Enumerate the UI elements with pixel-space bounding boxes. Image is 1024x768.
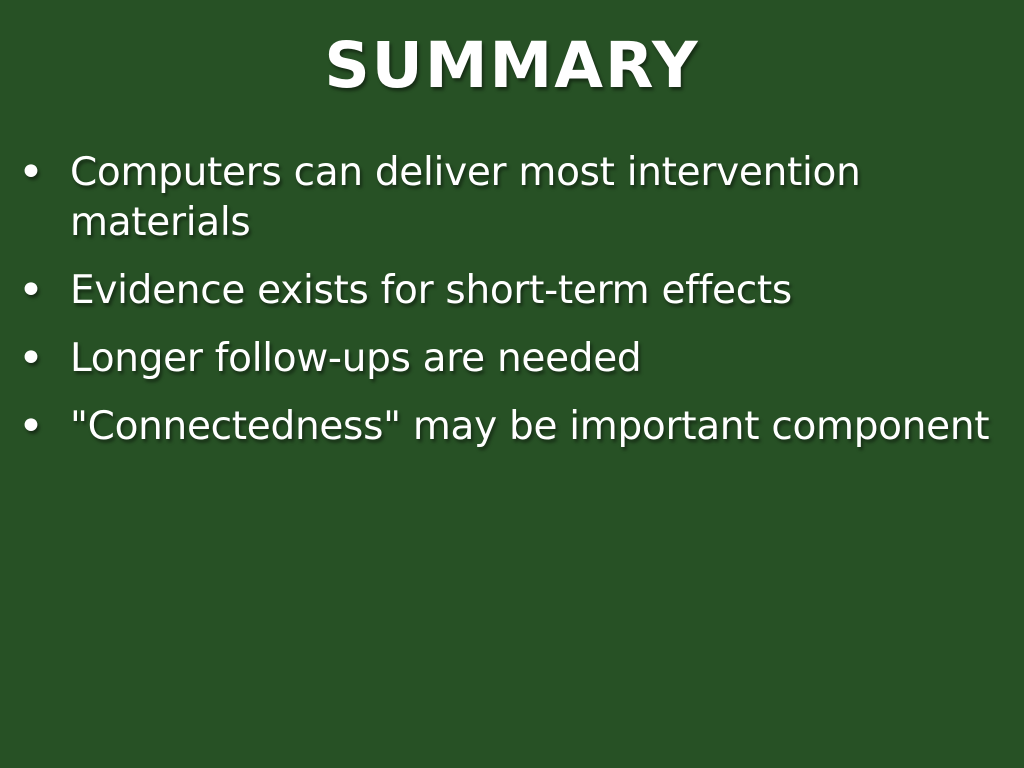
bullet-point-icon: •	[18, 148, 70, 198]
list-item: • "Connectedness" may be important compo…	[18, 402, 998, 452]
list-item: • Evidence exists for short-term effects	[18, 266, 998, 316]
presentation-slide: SUMMARY • Computers can deliver most int…	[0, 0, 1024, 768]
bullet-point-icon: •	[18, 266, 70, 316]
list-item-label: Longer follow-ups are needed	[70, 334, 998, 384]
bullet-point-icon: •	[18, 334, 70, 384]
list-item-label: Evidence exists for short-term effects	[70, 266, 998, 316]
page-title: SUMMARY	[0, 33, 1024, 99]
list-item-label: Computers can deliver most intervention …	[70, 148, 998, 248]
bullet-point-icon: •	[18, 402, 70, 452]
list-item: • Computers can deliver most interventio…	[18, 148, 998, 248]
bullet-list: • Computers can deliver most interventio…	[18, 148, 998, 470]
list-item: • Longer follow-ups are needed	[18, 334, 998, 384]
list-item-label: "Connectedness" may be important compone…	[70, 402, 998, 452]
